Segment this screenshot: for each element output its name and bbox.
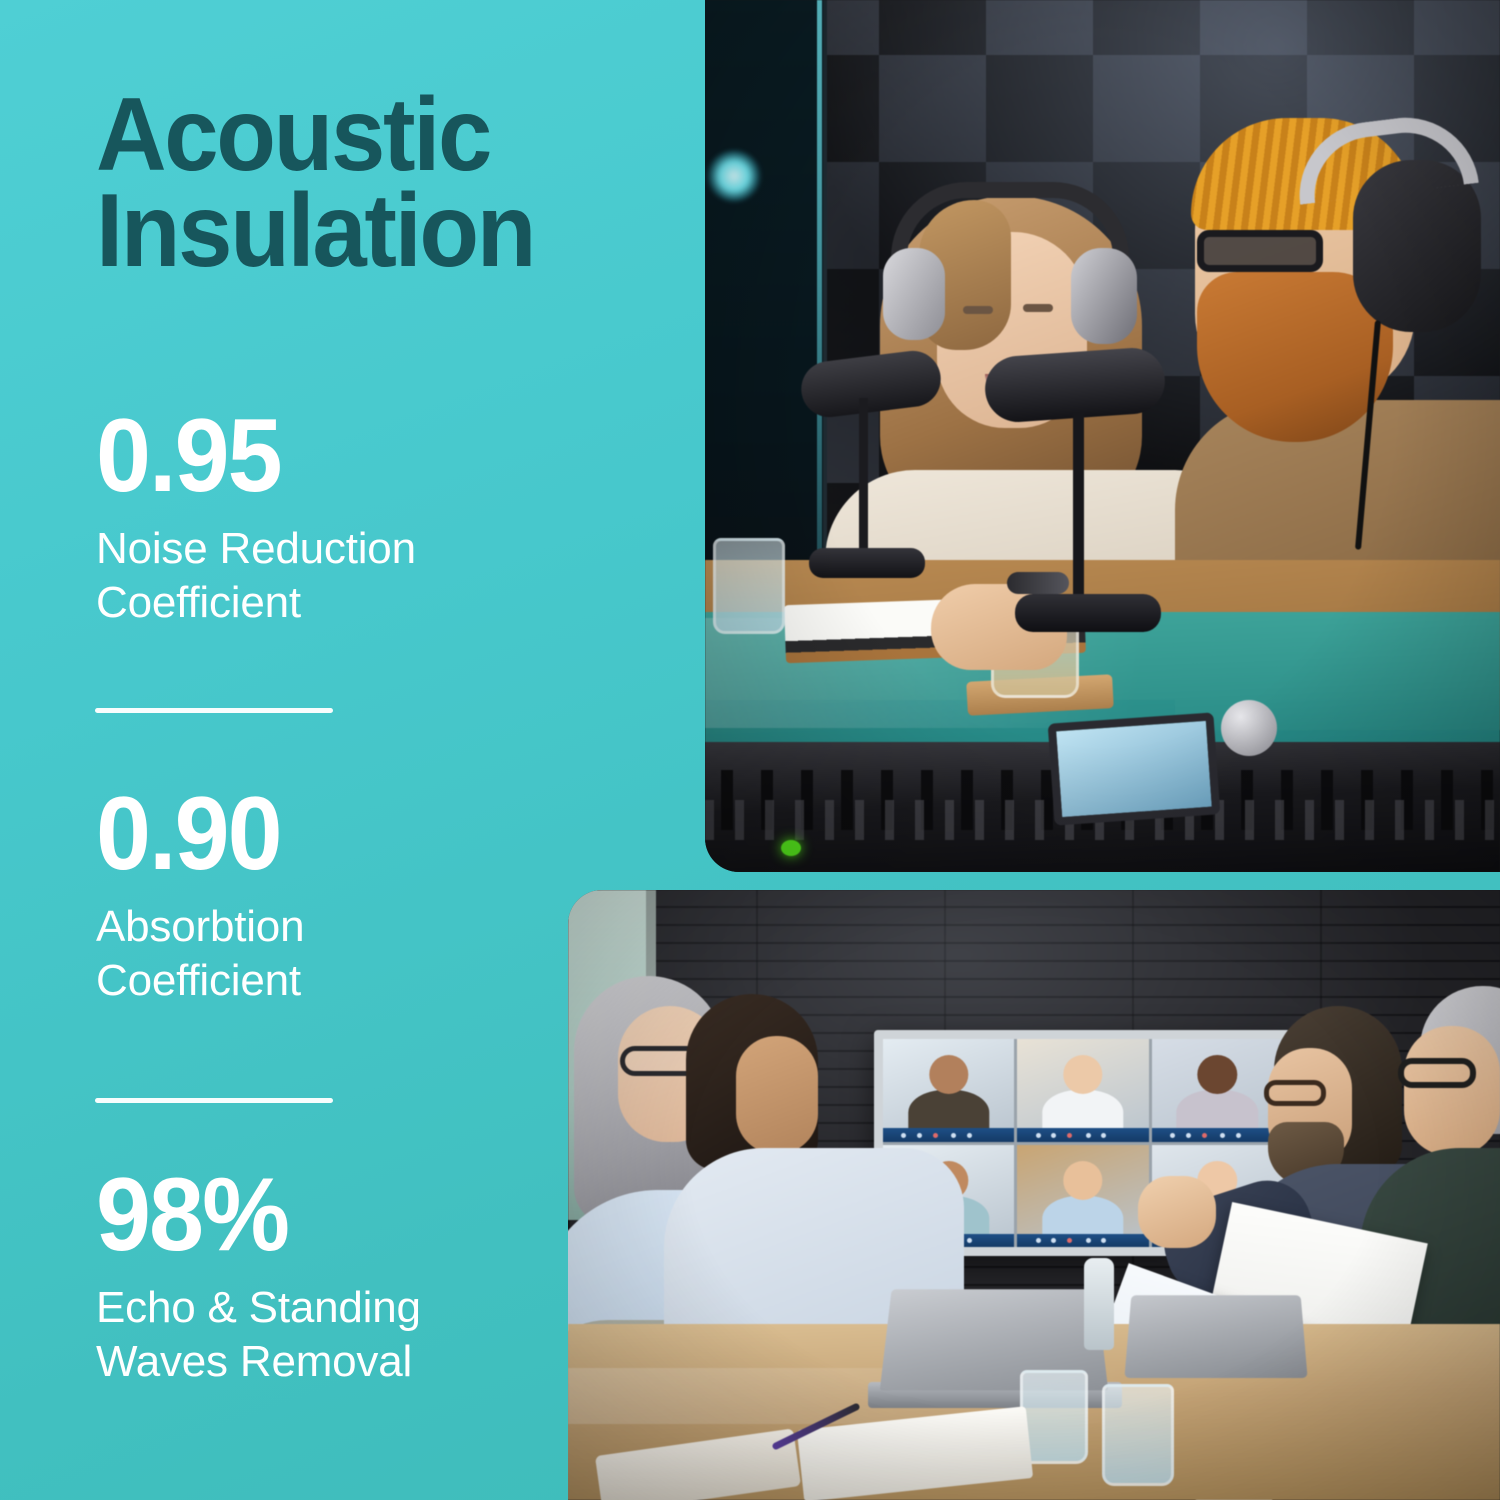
stat-value-echo-removal: 98% xyxy=(96,1163,590,1267)
water-glass-left xyxy=(713,538,785,634)
host-man-sunglasses xyxy=(1197,230,1323,272)
podcast-studio-photo xyxy=(705,0,1500,872)
tile-toolbar-dot xyxy=(967,1133,972,1138)
tile-toolbar-dot xyxy=(901,1133,906,1138)
attendee-man-blazer-hand xyxy=(1138,1176,1216,1248)
host-man-bracelet xyxy=(1007,572,1069,594)
mixing-console-jog-wheel xyxy=(1221,700,1277,756)
stat-label-noise-reduction-line-1: Noise Reduction xyxy=(96,522,616,576)
host-woman-eye-left xyxy=(963,306,993,314)
tile-person-head xyxy=(1063,1161,1102,1200)
tile-toolbar xyxy=(1017,1234,1148,1247)
laptop-two-screen xyxy=(1124,1295,1307,1378)
participant-tile-5 xyxy=(1017,1145,1148,1248)
conference-room-photo xyxy=(568,890,1500,1500)
stat-value-noise-reduction: 0.95 xyxy=(96,404,590,508)
stat-label-absorbtion: Absorbtion Coefficient xyxy=(96,900,616,1007)
participant-tile-1 xyxy=(883,1039,1014,1142)
tile-toolbar-dot xyxy=(1220,1133,1225,1138)
tile-toolbar-dot xyxy=(1036,1238,1041,1243)
attendee-man-grey-glasses xyxy=(1398,1058,1476,1088)
stat-noise-reduction: 0.95 Noise Reduction Coefficient xyxy=(96,404,616,629)
studio-light-glow xyxy=(707,150,761,202)
tile-person-head xyxy=(929,1055,968,1094)
stat-value-absorbtion: 0.90 xyxy=(96,782,590,886)
stat-label-echo-removal: Echo & Standing Waves Removal xyxy=(96,1281,616,1388)
host-woman-headphone-band xyxy=(891,182,1129,258)
stat-label-noise-reduction-line-2: Coefficient xyxy=(96,576,616,630)
stat-label-noise-reduction: Noise Reduction Coefficient xyxy=(96,522,616,629)
microphone-right-stand xyxy=(1073,412,1084,608)
stat-echo-removal: 98% Echo & Standing Waves Removal xyxy=(96,1163,616,1388)
tile-toolbar-dot xyxy=(933,1133,938,1138)
tile-toolbar-dot xyxy=(917,1133,922,1138)
page-title: Acoustic Insulation xyxy=(96,88,660,279)
tile-toolbar-dot xyxy=(1101,1133,1106,1138)
host-woman-headphone-left-cup xyxy=(883,248,945,340)
tile-toolbar-dot xyxy=(1170,1133,1175,1138)
infographic-canvas: Acoustic Insulation 0.95 Noise Reduction… xyxy=(0,0,1500,1500)
tile-toolbar-dot xyxy=(1101,1238,1106,1243)
microphone-right-base xyxy=(1015,594,1161,632)
participant-tile-2 xyxy=(1017,1039,1148,1142)
attendee-man-grey-face xyxy=(1404,1026,1500,1156)
stat-label-echo-removal-line-1: Echo & Standing xyxy=(96,1281,616,1335)
divider-one xyxy=(95,708,333,713)
tile-toolbar-dot xyxy=(1067,1238,1072,1243)
tile-person-head xyxy=(1198,1055,1237,1094)
stat-label-absorbtion-line-1: Absorbtion xyxy=(96,900,616,954)
host-woman-headphone-right-cup xyxy=(1071,248,1137,344)
attendee-man-dark-face xyxy=(736,1036,818,1154)
tile-toolbar-dot xyxy=(951,1133,956,1138)
page-title-line-2: Insulation xyxy=(96,184,660,280)
tile-toolbar-dot xyxy=(1051,1133,1056,1138)
mixing-console-screen xyxy=(1048,712,1221,825)
conference-water-glass-2 xyxy=(1102,1384,1174,1486)
page-title-line-1: Acoustic xyxy=(96,88,660,184)
stat-absorbtion: 0.90 Absorbtion Coefficient xyxy=(96,782,616,1007)
tile-toolbar-dot xyxy=(1051,1238,1056,1243)
microphone-left-stand xyxy=(859,398,868,558)
tile-toolbar-dot xyxy=(1086,1133,1091,1138)
tile-toolbar xyxy=(883,1128,1014,1141)
tile-toolbar-dot xyxy=(967,1238,972,1243)
tile-toolbar-dot xyxy=(1036,1133,1041,1138)
tile-toolbar xyxy=(1017,1128,1148,1141)
tile-toolbar-dot xyxy=(1186,1133,1191,1138)
host-woman-eye-right xyxy=(1023,304,1053,312)
stat-label-echo-removal-line-2: Waves Removal xyxy=(96,1335,616,1389)
tile-toolbar-dot xyxy=(1236,1133,1241,1138)
water-bottle xyxy=(1084,1258,1114,1350)
tile-toolbar-dot xyxy=(1086,1238,1091,1243)
tile-toolbar-dot xyxy=(1067,1133,1072,1138)
tile-person-head xyxy=(1063,1055,1102,1094)
attendee-man-blazer-glasses xyxy=(1264,1080,1326,1106)
stat-label-absorbtion-line-2: Coefficient xyxy=(96,954,616,1008)
tile-toolbar-dot xyxy=(1202,1133,1207,1138)
tile-toolbar xyxy=(1152,1128,1283,1141)
console-status-led xyxy=(781,840,801,856)
studio-door-panel xyxy=(705,0,827,620)
divider-two xyxy=(95,1098,333,1103)
microphone-left-base xyxy=(809,548,925,578)
